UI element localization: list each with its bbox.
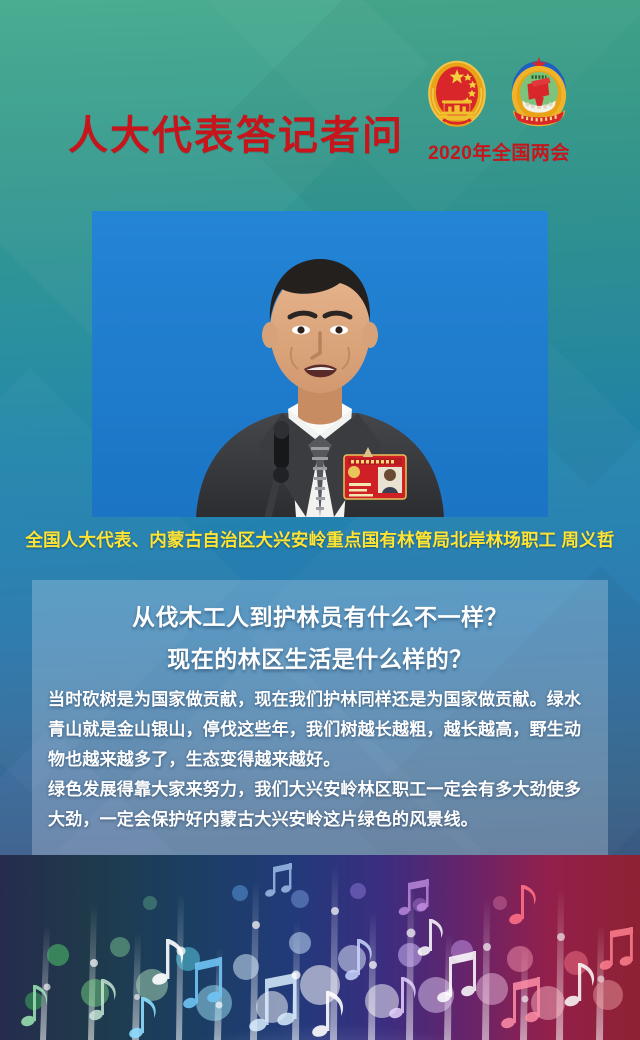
speaker-photo-illustration [92, 211, 548, 517]
event-subtitle: 2020年全国两会 [418, 138, 580, 165]
header: 人大代表答记者问 [0, 0, 640, 195]
speaker-photo [92, 211, 548, 517]
qa-panel: 从伐木工人到护林员有什么不一样？ 现在的林区生活是什么样的？ 当时砍树是为国家做… [32, 580, 608, 862]
national-emblem-prc-icon [423, 57, 491, 133]
poster-root: 人大代表答记者问 [0, 0, 640, 1040]
music-notes-bokeh-icon [0, 855, 640, 1040]
cppcc-emblem-icon [505, 57, 573, 133]
answer-text: 当时砍树是为国家做贡献，现在我们护林同样还是为国家做贡献。绿水青山就是金山银山，… [48, 685, 594, 835]
answer-paragraph-2: 绿色发展得靠大家来努力，我们大兴安岭林区职工一定会有多大劲使多大劲，一定会保护好… [48, 775, 594, 835]
answer-paragraph-1: 当时砍树是为国家做贡献，现在我们护林同样还是为国家做贡献。绿水青山就是金山银山，… [48, 685, 594, 775]
page-title: 人大代表答记者问 [68, 116, 404, 156]
question-line-2: 现在的林区生活是什么样的？ [32, 648, 608, 671]
photo-caption: 全国人大代表、内蒙古自治区大兴安岭重点国有林管局北岸林场职工 周义哲 [0, 527, 640, 552]
question-line-1: 从伐木工人到护林员有什么不一样？ [32, 606, 608, 629]
footer-decoration [0, 855, 640, 1040]
emblem-group [418, 57, 578, 135]
